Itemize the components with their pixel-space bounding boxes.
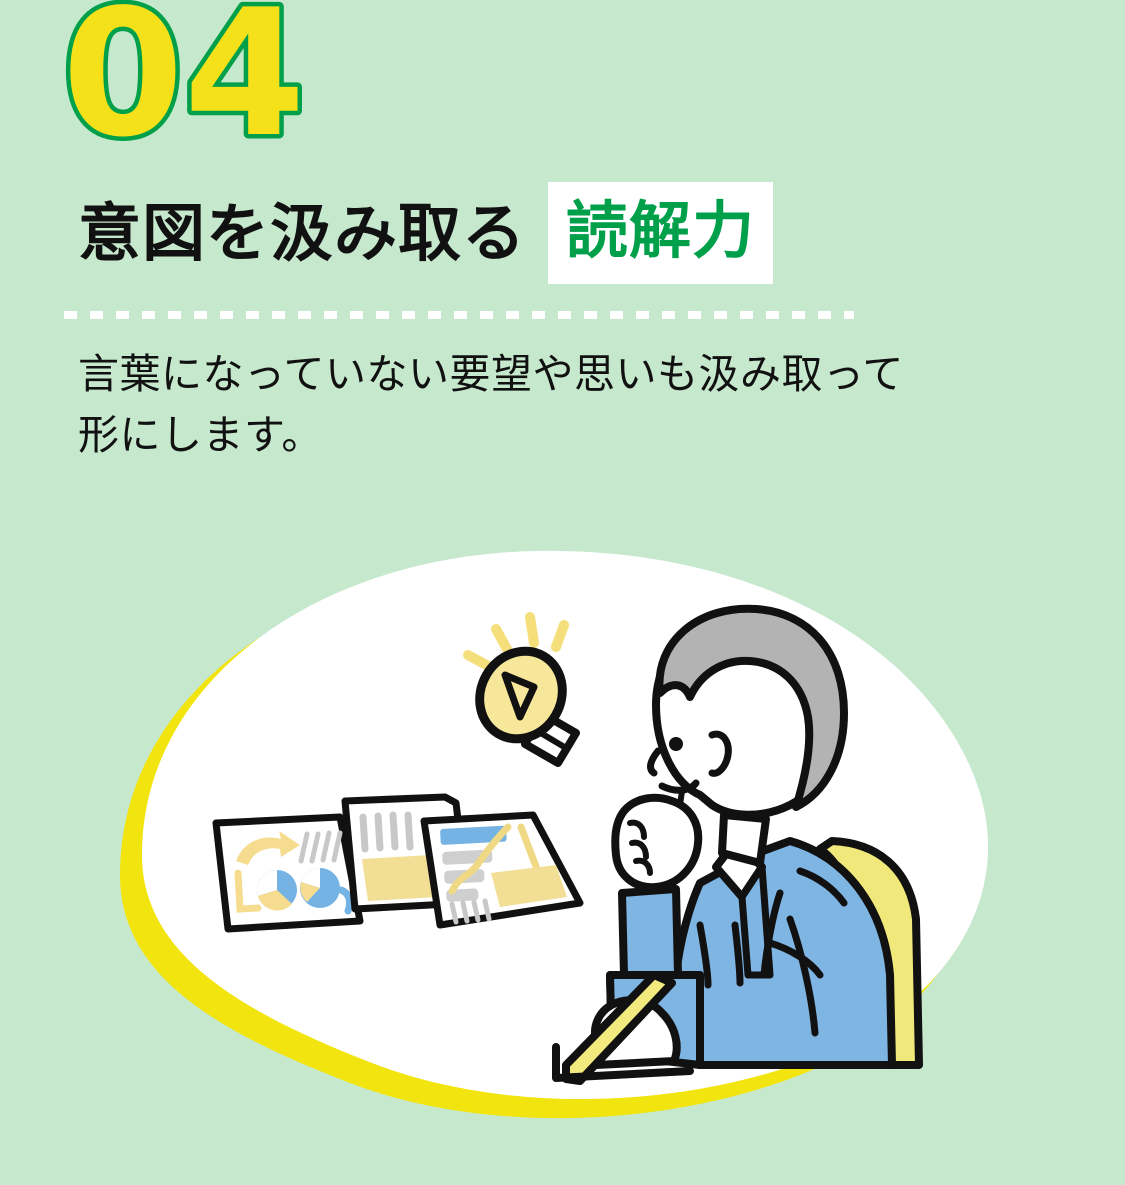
document-pie-chart xyxy=(216,817,360,929)
document-block-highlight xyxy=(362,855,437,901)
dotted-divider xyxy=(64,311,854,319)
person-eye xyxy=(669,737,683,751)
description-text: 言葉になっていない要望や思いも汲み取って 形にします。 xyxy=(78,344,1038,465)
description-line-2: 形にします。 xyxy=(78,405,1038,466)
heading-highlight-text: 読解力 xyxy=(548,182,773,284)
heading-main-text: 意図を汲み取る xyxy=(78,202,526,265)
person-fist xyxy=(615,798,698,887)
number-badge-text: 04 xyxy=(62,0,306,176)
description-line-1: 言葉になっていない要望や思いも汲み取って xyxy=(78,344,1038,405)
number-badge: 04 xyxy=(62,0,362,166)
feature-card: 04 意図を汲み取る 読解力 言葉になっていない要望や思いも汲み取って 形にしま… xyxy=(0,0,1125,1185)
pie-chart-2 xyxy=(300,868,340,908)
person-neck xyxy=(722,815,766,863)
illustration xyxy=(0,505,1125,1185)
page-title: 意図を汲み取る 読解力 xyxy=(78,182,773,284)
person-sleeve-upper xyxy=(622,889,678,975)
pie-chart-1 xyxy=(257,870,297,911)
